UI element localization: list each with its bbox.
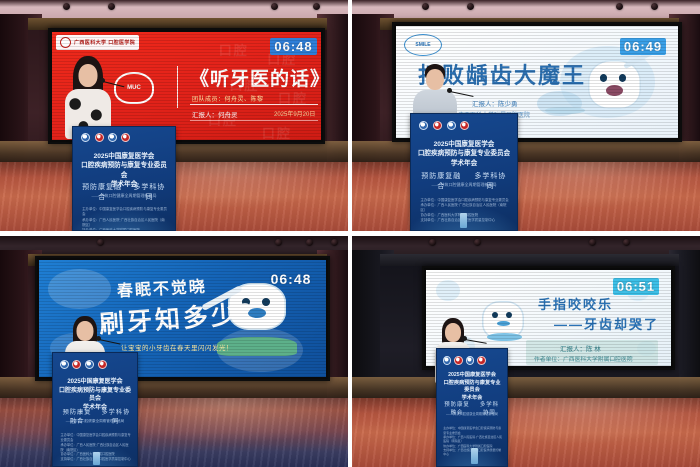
title-divider — [177, 66, 178, 108]
decor-cloud — [48, 269, 111, 309]
slide-team-line: 团队成员：何舟灵、陈黎 — [192, 94, 264, 103]
smile-logo: SMILE — [404, 34, 442, 56]
lectern: 2025中国康复医学会 口腔疾病预防与康复专业委员会 学术年会 预防康复融合 多… — [72, 126, 176, 231]
tooth-mascot — [588, 60, 642, 109]
four-panel-photo-collage: 口腔 口腔 口腔 口腔 口腔 口腔 广西医科大学 口腔医学院 MUC 《听牙医的… — [0, 0, 700, 467]
tooth-eye-right — [506, 312, 512, 318]
countdown-timer: 06:48 — [270, 38, 317, 55]
lectern-logo-row — [81, 133, 144, 142]
countdown-timer: 06:48 — [266, 270, 316, 288]
watermark-text: 口腔 — [262, 123, 292, 140]
slide-presenter-line: 汇报人：陈 林 — [560, 343, 601, 353]
lectern-title-line1: 2025中国康复医学会 — [79, 152, 169, 162]
crest-blue-icon — [443, 356, 452, 365]
smile-logo-label: SMILE — [415, 42, 430, 48]
crest-red-icon — [95, 133, 104, 142]
lectern-title-line3: 学术年会 — [417, 159, 510, 169]
head — [77, 321, 94, 341]
slide-title: 《听牙医的话》 — [190, 70, 321, 90]
title-underline — [190, 104, 318, 105]
decor-swoosh — [545, 107, 584, 115]
lectern-title: 2025中国康复医学会 口腔疾病预防与康复专业委员会 学术年会 — [441, 372, 503, 402]
lectern-title-line2: 口腔疾病预防与康复专业委员会 — [441, 380, 503, 395]
presenter-info-box: 汇报人：陈 林 作者单位：广西医科大学附属口腔医院 — [526, 340, 658, 365]
slide-title-line1: 手指咬咬乐 — [538, 298, 613, 312]
crest-blue-icon — [85, 360, 94, 369]
crest-red-icon — [454, 356, 463, 365]
lectern-wave-graphic — [72, 207, 176, 231]
lectern-slogan-sub: —— 共筑口腔健康全周期管理新格局 — [424, 182, 505, 188]
lectern-title-line2: 口腔疾病预防与康复专业委员会 — [58, 387, 132, 404]
crest-red-icon — [477, 356, 486, 365]
lectern-title-line1: 2025中国康复医学会 — [417, 140, 510, 150]
crest-blue-icon — [60, 360, 69, 369]
decor-blob — [436, 280, 461, 301]
lectern-logo-row — [419, 121, 485, 130]
lectern-title-line1: 2025中国康复医学会 — [58, 378, 132, 387]
crest-red-icon — [72, 360, 81, 369]
slide-presenter-line: 汇报人：陈少勇 — [472, 98, 518, 108]
stage-front — [352, 141, 700, 164]
university-logo-label: 广西医科大学 口腔医学院 — [74, 39, 135, 46]
floor-reflection — [352, 398, 700, 467]
lectern-title-line2: 口腔疾病预防与康复专业委员会 — [417, 149, 510, 159]
lectern-title-line1: 2025中国康复医学会 — [441, 372, 503, 380]
lectern: 2025中国康复医学会 口腔疾病预防与康复专业委员会 学术年会 预防康复融合 多… — [52, 352, 138, 467]
heart-badge: MUC — [114, 72, 154, 104]
lectern-footer-line: 主办单位：中国康复医学会口腔疾病预防与康复专业委员会 — [443, 426, 502, 435]
lectern-wave-graphic — [52, 441, 138, 467]
footer-rule — [190, 120, 318, 121]
tooth-mouth — [606, 85, 623, 96]
slide-presenter-line: 汇报人：何舟灵 — [192, 109, 238, 119]
slide-title-line2: ——牙齿却哭了 — [554, 318, 659, 332]
lectern-logo-row — [60, 360, 112, 369]
crest-red-icon — [121, 133, 130, 142]
crest-blue-icon — [81, 133, 90, 142]
tooth-mouth — [497, 321, 510, 326]
tooth-eye-left — [492, 312, 498, 318]
lectern-title: 2025中国康复医学会 口腔疾病预防与康复专业委员会 学术年会 — [417, 140, 510, 169]
lectern-wave-graphic — [410, 204, 518, 231]
panel-bottom-left: 春眠不觉晓 刷牙知多少？ 让宝宝的小牙齿在春天里闪闪发光！ 06:48 — [0, 236, 348, 467]
crest-red-icon — [433, 121, 442, 130]
heart-badge-label: MUC — [127, 85, 141, 91]
crest-blue-icon — [108, 133, 117, 142]
stage-valance — [380, 254, 679, 266]
crest-red-icon — [460, 121, 469, 130]
floor-reflection — [352, 162, 700, 231]
slide-title-line1: 春眠不觉晓 — [117, 280, 208, 301]
panel-top-right: SMILE 打败龋齿大魔王 汇报人：陈少勇 广西医科大学附属口腔医院 06:4 — [352, 0, 700, 231]
university-logo: 广西医科大学 口腔医学院 — [56, 35, 139, 50]
countdown-timer: 06:51 — [613, 278, 659, 295]
head — [426, 69, 444, 90]
stage-front — [352, 377, 700, 400]
slide-date-line: 2025年9月20日 — [274, 109, 315, 118]
slide-org-line: 作者单位：广西医科大学附属口腔医院 — [534, 354, 633, 363]
lectern-slogan-sub: —— 共筑口腔健康全周期管理新格局 — [445, 411, 498, 416]
head — [79, 64, 98, 87]
lectern-logo-row — [443, 356, 486, 365]
crest-blue-icon — [466, 356, 475, 365]
countdown-timer: 06:49 — [620, 38, 666, 55]
lectern: 2025中国康复医学会 口腔疾病预防与康复专业委员会 学术年会 预防康复融合 多… — [410, 113, 518, 231]
tooth-eye-right — [619, 74, 627, 82]
lectern-slogan-sub: —— 共筑口腔健康全周期管理新格局 — [85, 193, 163, 199]
lectern-slogan-sub: —— 共筑口腔健康全周期管理新格局 — [63, 419, 127, 424]
panel-top-left: 口腔 口腔 口腔 口腔 口腔 口腔 广西医科大学 口腔医学院 MUC 《听牙医的… — [0, 0, 348, 231]
crest-blue-icon — [447, 121, 456, 130]
lectern-footer-line: 主办单位：中国康复医学会口腔疾病预防与康复专业委员会 — [421, 198, 510, 203]
mascot-base — [487, 333, 521, 341]
slide-subtitle: 让宝宝的小牙齿在春天里闪闪发光！ — [121, 342, 233, 352]
lectern-title-line2: 口腔疾病预防与康复专业委员会 — [79, 161, 169, 180]
seal-icon — [60, 37, 71, 48]
watermark-text: 口腔 — [219, 40, 249, 59]
crest-blue-icon — [419, 121, 428, 130]
crest-red-icon — [98, 360, 107, 369]
lectern-wave-graphic — [436, 440, 508, 467]
tooth-eye-left — [600, 74, 608, 82]
panel-bottom-right: 手指咬咬乐 ——牙齿却哭了 汇报人：陈 林 作者单位：广西医科大学附属口腔医院 … — [352, 236, 700, 467]
lectern: 2025中国康复医学会 口腔疾病预防与康复专业委员会 学术年会 预防康复融合 多… — [436, 348, 508, 467]
head — [445, 323, 461, 342]
